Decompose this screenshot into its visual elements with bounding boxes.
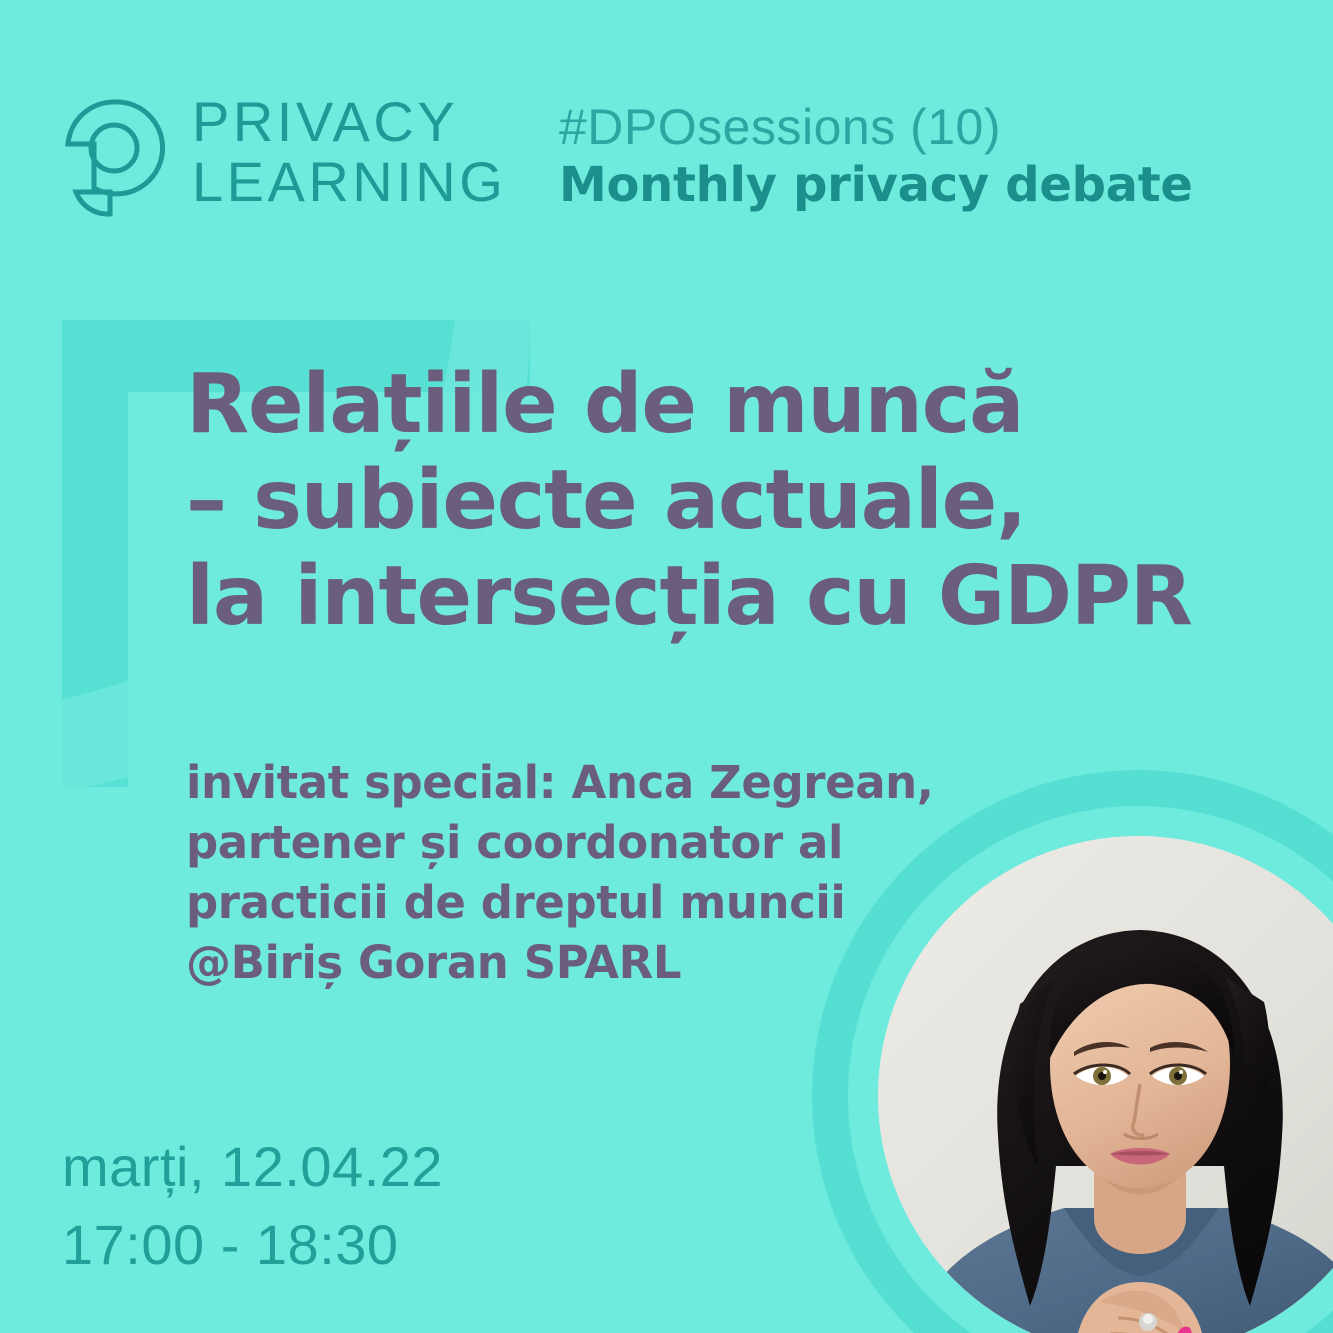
title-line-1: Relațiile de muncă — [186, 357, 1246, 453]
event-schedule: marți, 12.04.22 17:00 - 18:30 — [62, 1128, 762, 1284]
session-subtitle: Monthly privacy debate — [559, 156, 1193, 214]
privacy-learning-logo-icon — [62, 96, 170, 220]
speaker-line-3: practicii de dreptul muncii — [186, 873, 1006, 933]
page-title: Relațiile de muncă – subiecte actuale, l… — [186, 357, 1246, 645]
title-line-3: la intersecția cu GDPR — [186, 549, 1246, 645]
speaker-line-4: @Biriș Goran SPARL — [186, 933, 1006, 993]
speaker-line-1: invitat special: Anca Zegrean, — [186, 753, 1006, 813]
speaker-line-2: partener și coordonator al — [186, 813, 1006, 873]
event-poster: PRIVACY LEARNING #DPOsessions (10) Month… — [0, 0, 1333, 1333]
poster-header: PRIVACY LEARNING #DPOsessions (10) Month… — [62, 96, 1262, 256]
speaker-description: invitat special: Anca Zegrean, partener … — [186, 753, 1006, 993]
brand-wordmark: PRIVACY LEARNING — [192, 92, 506, 212]
event-date: marți, 12.04.22 — [62, 1128, 762, 1206]
brand-line-1: PRIVACY — [192, 92, 506, 152]
brand-logo: PRIVACY LEARNING — [62, 96, 506, 220]
session-tag: #DPOsessions (10) — [559, 98, 1193, 156]
event-time: 17:00 - 18:30 — [62, 1206, 762, 1284]
session-info: #DPOsessions (10) Monthly privacy debate — [559, 98, 1193, 214]
brand-line-2: LEARNING — [192, 152, 506, 212]
title-line-2: – subiecte actuale, — [186, 453, 1246, 549]
